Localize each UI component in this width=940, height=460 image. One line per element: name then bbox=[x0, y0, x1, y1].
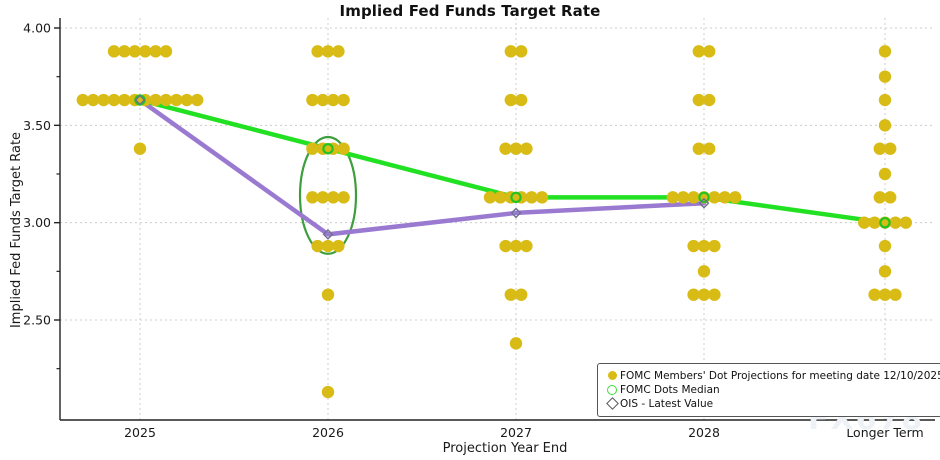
y-tick-label: 4.00 bbox=[23, 21, 51, 36]
dot-marker bbox=[332, 240, 344, 252]
x-tick-label: 2025 bbox=[124, 425, 156, 440]
dot-marker bbox=[708, 288, 720, 300]
y-tick-label: 3.50 bbox=[23, 118, 51, 133]
dot-marker bbox=[900, 216, 912, 228]
dot-marker bbox=[337, 191, 349, 203]
dot-marker bbox=[879, 119, 891, 131]
dot-marker bbox=[322, 386, 334, 398]
chart-container: Implied Fed Funds Target Rate 4.003.503.… bbox=[0, 0, 940, 460]
dot-marker bbox=[703, 94, 715, 106]
dot-marker bbox=[134, 142, 146, 154]
median-line bbox=[140, 100, 885, 223]
dot-marker bbox=[515, 45, 527, 57]
dot-marker bbox=[729, 191, 741, 203]
dot-marker bbox=[879, 265, 891, 277]
dot-marker bbox=[879, 240, 891, 252]
dot-marker bbox=[337, 142, 349, 154]
x-axis-title: Projection Year End bbox=[443, 441, 568, 456]
dot-marker bbox=[879, 94, 891, 106]
legend-item-ois: OIS - Latest Value bbox=[604, 397, 940, 410]
dot-marker bbox=[879, 70, 891, 82]
dot-markers bbox=[77, 45, 912, 398]
dot-marker bbox=[515, 288, 527, 300]
dot-marker bbox=[322, 288, 334, 300]
dot-marker bbox=[698, 265, 710, 277]
ois-markers bbox=[136, 96, 709, 239]
legend-label-ois: OIS - Latest Value bbox=[620, 398, 713, 410]
dot-marker bbox=[708, 240, 720, 252]
filled-circle-icon bbox=[604, 371, 620, 380]
dot-marker bbox=[520, 142, 532, 154]
dot-marker bbox=[884, 142, 896, 154]
y-tick-label: 3.00 bbox=[23, 215, 51, 230]
dot-marker bbox=[332, 45, 344, 57]
dot-marker bbox=[510, 337, 522, 349]
open-diamond-icon bbox=[604, 399, 620, 408]
dot-marker bbox=[884, 191, 896, 203]
dot-marker bbox=[520, 240, 532, 252]
legend-label-median: FOMC Dots Median bbox=[620, 384, 720, 396]
dot-marker bbox=[879, 168, 891, 180]
legend-item-median: FOMC Dots Median bbox=[604, 383, 940, 396]
dot-marker bbox=[703, 142, 715, 154]
dot-marker bbox=[191, 94, 203, 106]
x-tick-label: Longer Term bbox=[846, 425, 923, 440]
dot-marker bbox=[703, 45, 715, 57]
dot-marker bbox=[536, 191, 548, 203]
chart-legend: FOMC Members' Dot Projections for meetin… bbox=[597, 363, 940, 417]
dot-marker bbox=[160, 45, 172, 57]
grid-lines bbox=[60, 18, 935, 420]
legend-item-dots: FOMC Members' Dot Projections for meetin… bbox=[604, 369, 940, 382]
axis-lines bbox=[54, 18, 935, 420]
x-tick-label: 2026 bbox=[312, 425, 344, 440]
dot-marker bbox=[889, 288, 901, 300]
dot-marker bbox=[879, 45, 891, 57]
x-tick-label: 2028 bbox=[688, 425, 720, 440]
x-tick-label: 2027 bbox=[500, 425, 532, 440]
y-tick-label: 2.50 bbox=[23, 313, 51, 328]
open-circle-icon bbox=[604, 385, 620, 395]
y-axis-title: Implied Fed Funds Target Rate bbox=[9, 132, 24, 328]
legend-label-dots: FOMC Members' Dot Projections for meetin… bbox=[620, 370, 940, 382]
dot-marker bbox=[515, 94, 527, 106]
dot-marker bbox=[337, 94, 349, 106]
